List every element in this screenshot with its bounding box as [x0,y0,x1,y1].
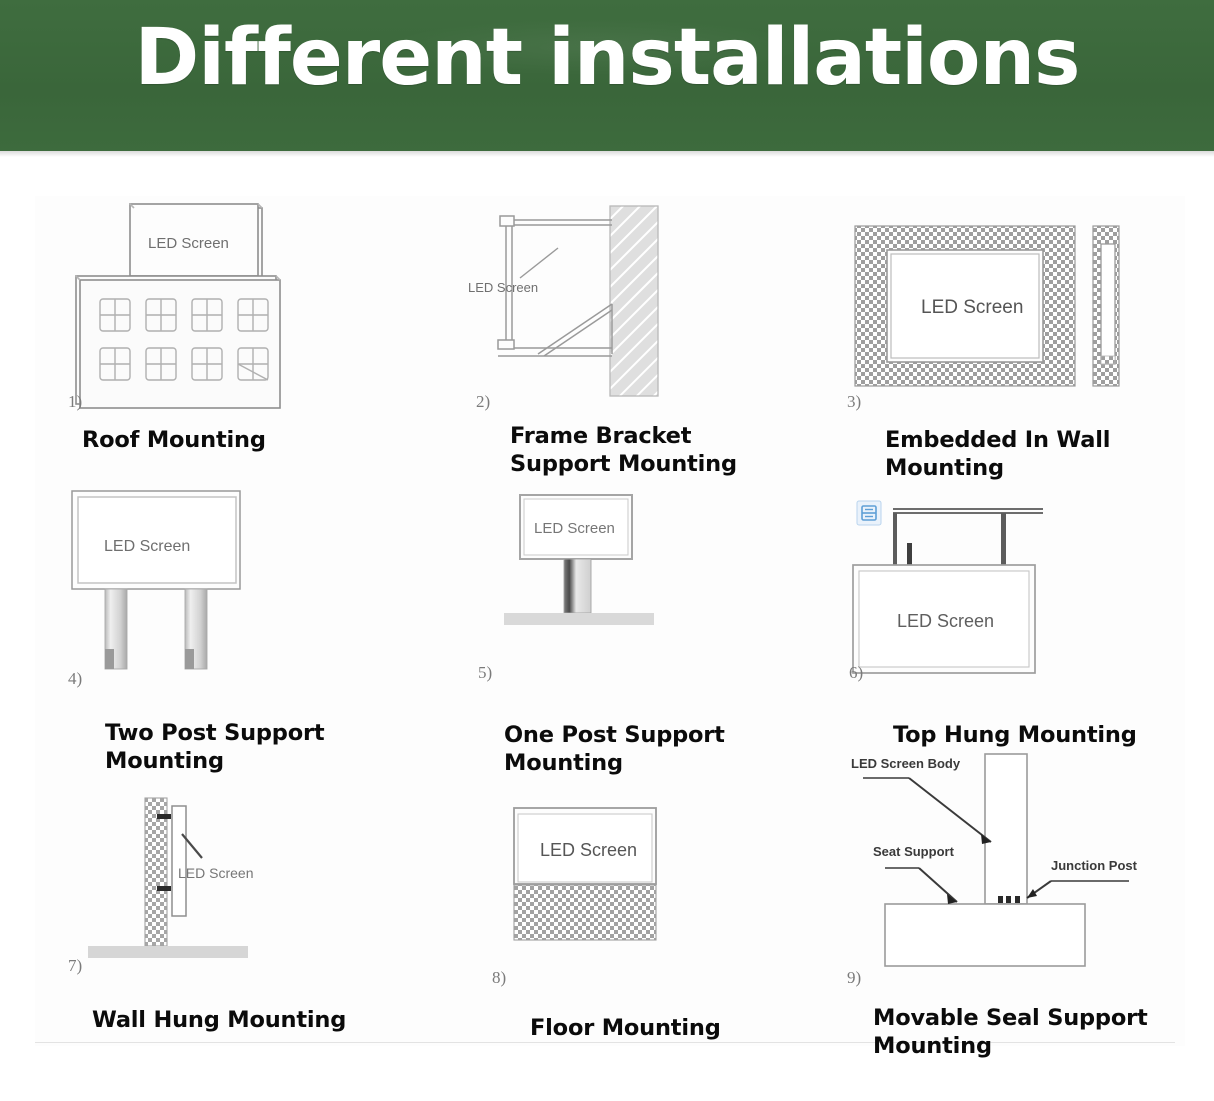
diagram-two-post-support: LED Screen [60,481,360,701]
support-post-center [564,559,591,613]
caption-two-post-support: Two Post Support Mounting [105,719,324,776]
figure-number-2: 2) [476,392,490,412]
diagram-roof-mounting: LED Screen [60,196,360,421]
caption-embedded-in-wall: Embedded In Wall Mounting [885,426,1110,483]
wall-hatched-2 [610,206,658,396]
floor-plinth-8 [514,885,656,940]
diagram-floor-mounting: LED Screen [462,786,762,996]
bracket-bottom [157,886,171,891]
figure-number-9: 9) [847,968,861,988]
annotation-seat-support: Seat Support [873,844,955,859]
panel-top-hung-mounting: LED Screen 6) Top Hung Mounting [845,481,1205,781]
annotation-led-screen-body: LED Screen Body [851,756,961,771]
figure-number-3: 3) [847,392,861,412]
ground-slab-5 [504,613,654,625]
figure-number-7: 7) [68,956,82,976]
diagram-movable-seal-support: LED Screen Body Seat Support Junction Po… [845,746,1185,996]
caption-floor-mounting: Floor Mounting [530,1014,721,1042]
screen-label-6: LED Screen [897,611,994,631]
diagram-one-post-support: LED Screen [462,481,762,701]
figure-number-1: 1) [68,392,82,412]
caption-movable-seal-support: Movable Seal Support Mounting [873,1004,1148,1061]
junction-post-bolts [998,896,1020,903]
hanger-left [893,513,897,567]
panel-movable-seal-support-mounting: LED Screen Body Seat Support Junction Po… [845,746,1214,1056]
figure-number-8: 8) [492,968,506,988]
page-title: Different installations [0,18,1214,100]
screen-label-8: LED Screen [540,840,637,860]
figure-number-4: 4) [68,669,82,689]
diagram-frame-bracket: LED Screen [462,196,762,421]
diagram-embedded-in-wall: LED Screen [845,196,1145,421]
header-shadow-divider [0,151,1214,157]
screen-panel-7 [172,806,186,916]
header-band: Different installations [0,0,1214,151]
screen-label-1: LED Screen [148,235,229,252]
figure-number-6: 6) [849,663,863,683]
panel-frame-bracket-support-mounting: LED Screen 2) Frame Bracket Support Moun… [462,196,862,486]
panel-floor-mounting: LED Screen 8) Floor Mounting [462,786,862,1056]
wall-stippled-7 [145,798,167,946]
diagram-wall-hung: LED Screen [60,786,360,991]
bracket-top [157,814,171,819]
caption-frame-bracket: Frame Bracket Support Mounting [510,422,737,479]
panel-embedded-in-wall-mounting: LED Screen 3) Embedded In Wall Mounting [845,196,1205,486]
figure-number-5: 5) [478,663,492,683]
ground-slab-7 [88,946,248,958]
caption-wall-hung: Wall Hung Mounting [92,1006,346,1034]
annotation-junction-post: Junction Post [1051,858,1138,873]
caption-roof-mounting: Roof Mounting [82,426,266,454]
screen-label-2: LED Screen [468,280,538,295]
panel-roof-mounting: LED Screen 1) Roof Mounting [60,196,460,486]
diagram-top-hung: LED Screen [845,481,1145,696]
seat-support-base-9 [885,904,1085,966]
installation-diagram-grid: LED Screen 1) Roof Mounting [0,196,1214,1056]
screen-label-5: LED Screen [534,520,615,537]
panel-one-post-support-mounting: LED Screen 5) One Post Support Mounting [462,481,862,781]
hanger-right [1001,513,1006,567]
panel-wall-hung-mounting: LED Screen 7) Wall Hung Mounting [60,786,460,1056]
image-placeholder-icon [857,501,881,525]
screen-label-4: LED Screen [104,538,190,555]
panel-two-post-support-mounting: LED Screen 4) Two Post Support Mounting [60,481,460,781]
caption-one-post-support: One Post Support Mounting [504,721,725,778]
screen-label-7: LED Screen [178,865,253,881]
led-screen-body-9 [985,754,1027,904]
screen-label-3: LED Screen [921,297,1023,318]
